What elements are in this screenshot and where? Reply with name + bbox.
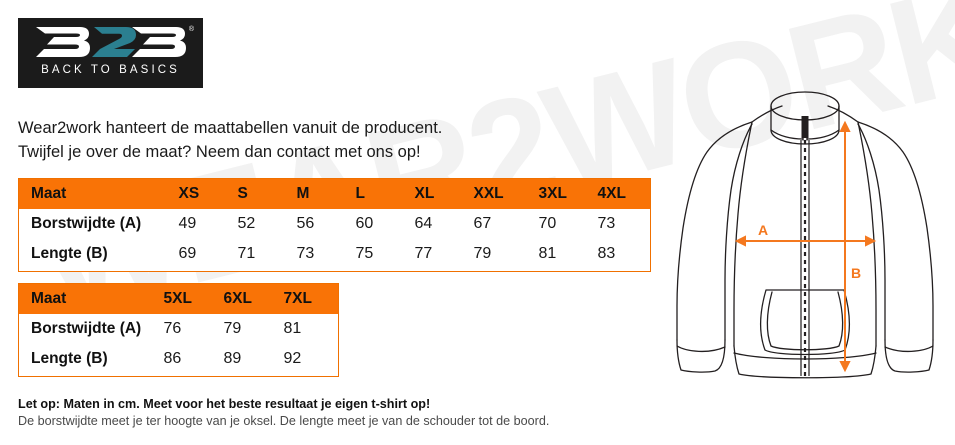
intro-text: Wear2work hanteert de maattabellen vanui…	[18, 116, 442, 164]
footer-line-2: De borstwijdte meet je ter hoogte van je…	[18, 413, 549, 430]
header-cell-maat: Maat	[19, 179, 177, 210]
cell-chest-xl: 64	[413, 209, 472, 239]
footer-notes: Let op: Maten in cm. Meet voor het beste…	[18, 396, 549, 430]
header-cell-l: L	[354, 179, 413, 210]
logo-b2b-icon	[34, 25, 186, 59]
intro-line-1: Wear2work hanteert de maattabellen vanui…	[18, 116, 442, 140]
intro-line-2: Twijfel je over de maat? Neem dan contac…	[18, 140, 442, 164]
brand-logo: ® BACK TO BASICS	[18, 18, 203, 88]
cell-length-m: 73	[295, 239, 354, 272]
cell-chest-l: 60	[354, 209, 413, 239]
logo-tagline: BACK TO BASICS	[18, 64, 203, 76]
table-row: Borstwijdte (A) 49 52 56 60 64 67 70 73	[19, 209, 651, 239]
footer-line-1: Let op: Maten in cm. Meet voor het beste…	[18, 396, 549, 413]
header-cell-xs: XS	[177, 179, 236, 210]
header-cell-xxl: XXL	[472, 179, 537, 210]
cell-length-3xl: 81	[537, 239, 596, 272]
header-cell-7xl: 7XL	[282, 284, 339, 315]
header-cell-3xl: 3XL	[537, 179, 596, 210]
header-cell-6xl: 6XL	[222, 284, 282, 315]
row-label-chest: Borstwijdte (A)	[19, 209, 177, 239]
zipper	[801, 116, 809, 376]
cell-chest-5xl: 76	[162, 314, 222, 344]
cell-length-4xl: 83	[596, 239, 651, 272]
row-label-chest-ext: Borstwijdte (A)	[19, 314, 162, 344]
size-chart-page: WEAR2WORK ® BACK TO BASICS Wear2work han…	[0, 0, 955, 445]
registered-mark: ®	[189, 26, 194, 33]
cell-length-l: 75	[354, 239, 413, 272]
cell-chest-m: 56	[295, 209, 354, 239]
size-table-extended: Maat 5XL 6XL 7XL Borstwijdte (A) 76 79 8…	[18, 283, 339, 377]
table-row: Lengte (B) 69 71 73 75 77 79 81 83	[19, 239, 651, 272]
header-cell-s: S	[236, 179, 295, 210]
measure-label-a: A	[758, 222, 768, 238]
header-cell-5xl: 5XL	[162, 284, 222, 315]
table-header-row: Maat 5XL 6XL 7XL	[19, 284, 339, 315]
cell-length-xs: 69	[177, 239, 236, 272]
cell-length-s: 71	[236, 239, 295, 272]
jacket-illustration: A B	[655, 78, 955, 388]
row-label-length-ext: Lengte (B)	[19, 344, 162, 377]
row-label-length: Lengte (B)	[19, 239, 177, 272]
header-cell-xl: XL	[413, 179, 472, 210]
cell-chest-xxl: 67	[472, 209, 537, 239]
header-cell-maat-ext: Maat	[19, 284, 162, 315]
cell-length-xxl: 79	[472, 239, 537, 272]
size-table-main: Maat XS S M L XL XXL 3XL 4XL Borstwijdte…	[18, 178, 651, 272]
cell-chest-4xl: 73	[596, 209, 651, 239]
measure-label-b: B	[851, 265, 861, 281]
cell-chest-3xl: 70	[537, 209, 596, 239]
cell-chest-xs: 49	[177, 209, 236, 239]
table-header-row: Maat XS S M L XL XXL 3XL 4XL	[19, 179, 651, 210]
table-row: Borstwijdte (A) 76 79 81	[19, 314, 339, 344]
cell-length-6xl: 89	[222, 344, 282, 377]
table-row: Lengte (B) 86 89 92	[19, 344, 339, 377]
cell-chest-s: 52	[236, 209, 295, 239]
cell-chest-6xl: 79	[222, 314, 282, 344]
header-cell-m: M	[295, 179, 354, 210]
cell-length-5xl: 86	[162, 344, 222, 377]
cell-chest-7xl: 81	[282, 314, 339, 344]
cell-length-xl: 77	[413, 239, 472, 272]
cell-length-7xl: 92	[282, 344, 339, 377]
header-cell-4xl: 4XL	[596, 179, 651, 210]
